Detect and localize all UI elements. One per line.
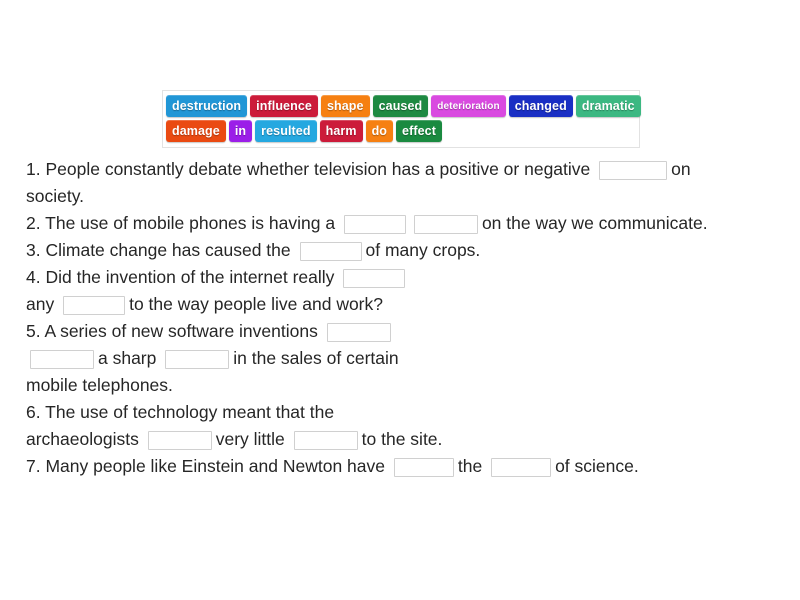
sentence-text: Did the invention of the internet really [41,267,335,287]
sentence-text: The use of mobile phones is having a [41,213,335,233]
sentence-text: a sharp [98,348,156,368]
word-tile-dramatic[interactable]: dramatic [576,95,641,117]
answer-blank[interactable] [414,215,478,234]
answer-blank[interactable] [394,458,454,477]
sentence-text: Many people like Einstein and Newton hav… [41,456,385,476]
word-bank-row: destructioninfluenceshapecauseddeteriora… [166,95,636,117]
answer-blank[interactable] [165,350,229,369]
sentence-2: 2. The use of mobile phones is having a … [26,210,778,237]
sentence-text: in the sales of certain [233,348,398,368]
sentence-7: 7. Many people like Einstein and Newton … [26,453,778,480]
answer-blank[interactable] [343,269,405,288]
answer-blank[interactable] [491,458,551,477]
word-tile-effect[interactable]: effect [396,120,442,142]
sentence-text: very little [216,429,285,449]
answer-blank[interactable] [300,242,362,261]
sentence-6: 6. The use of technology meant that the … [26,399,778,453]
sentence-text: to the way people live and work? [129,294,383,314]
answer-blank[interactable] [148,431,212,450]
sentence-5: 5. A series of new software inventions a… [26,318,778,399]
sentence-text: People constantly debate whether televis… [41,159,591,179]
sentence-number: 5. [26,321,41,341]
sentence-text: to the site. [362,429,443,449]
sentence-text: the [458,456,482,476]
word-bank: destructioninfluenceshapecauseddeteriora… [162,90,640,148]
sentence-list: 1. People constantly debate whether tele… [26,156,778,480]
word-tile-deterioration[interactable]: deterioration [431,95,505,117]
word-tile-caused[interactable]: caused [373,95,429,117]
word-tile-influence[interactable]: influence [250,95,318,117]
sentence-number: 3. [26,240,41,260]
sentence-number: 2. [26,213,41,233]
word-tile-damage[interactable]: damage [166,120,226,142]
sentence-text: any [26,294,54,314]
answer-blank[interactable] [294,431,358,450]
word-bank-row: damageinresultedharmdoeffect [166,120,636,142]
sentence-text: Climate change has caused the [41,240,291,260]
sentence-text: mobile telephones. [26,375,173,395]
sentence-1: 1. People constantly debate whether tele… [26,156,778,210]
word-tile-resulted[interactable]: resulted [255,120,316,142]
sentence-number: 7. [26,456,41,476]
sentence-text: of many crops. [366,240,481,260]
sentence-number: 4. [26,267,41,287]
sentence-number: 1. [26,159,41,179]
sentence-text: on [671,159,690,179]
sentence-text: The use of technology meant that the [41,402,334,422]
sentence-text: archaeologists [26,429,139,449]
answer-blank[interactable] [30,350,94,369]
word-tile-changed[interactable]: changed [509,95,573,117]
word-tile-in[interactable]: in [229,120,252,142]
sentence-text: of science. [555,456,639,476]
answer-blank[interactable] [327,323,391,342]
word-tile-do[interactable]: do [366,120,393,142]
sentence-text: society. [26,186,84,206]
sentence-4: 4. Did the invention of the internet rea… [26,264,778,318]
word-tile-destruction[interactable]: destruction [166,95,247,117]
exercise-page: destructioninfluenceshapecauseddeteriora… [0,0,800,600]
sentence-text: A series of new software inventions [41,321,318,341]
sentence-number: 6. [26,402,41,422]
answer-blank[interactable] [63,296,125,315]
sentence-3: 3. Climate change has caused the of many… [26,237,778,264]
answer-blank[interactable] [344,215,406,234]
word-tile-shape[interactable]: shape [321,95,370,117]
word-tile-harm[interactable]: harm [320,120,363,142]
sentence-text: on the way we communicate. [482,213,708,233]
answer-blank[interactable] [599,161,667,180]
